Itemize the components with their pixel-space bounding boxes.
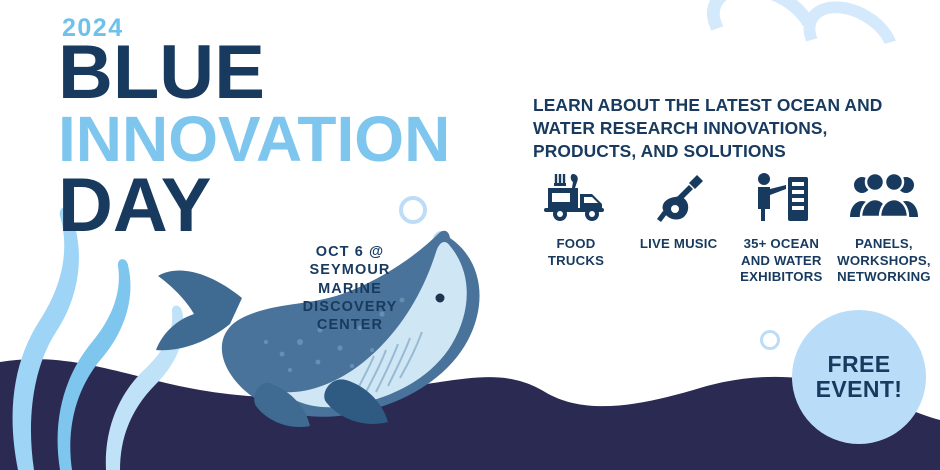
food-truck-icon <box>540 170 612 224</box>
title-line-3: DAY <box>58 171 578 241</box>
free-event-line-2: EVENT! <box>816 377 903 402</box>
feature-item-exhibitors: 35+ OCEAN AND WATER EXHIBITORS <box>733 170 829 286</box>
date-location-text: OCT 6 @ SEYMOUR MARINE DISCOVERY CENTER <box>280 243 420 334</box>
feature-caption: FOOD TRUCKS <box>528 236 624 269</box>
electric-guitar-icon <box>653 170 705 224</box>
people-group-icon <box>849 170 919 224</box>
page-title: BLUE INNOVATION DAY <box>58 38 578 241</box>
free-event-badge: FREE EVENT! <box>792 310 926 444</box>
feature-caption: LIVE MUSIC <box>640 236 717 253</box>
exhibitor-booth-icon <box>750 170 812 224</box>
feature-item-food-trucks: FOOD TRUCKS <box>528 170 624 269</box>
feature-caption: PANELS, WORKSHOPS, NETWORKING <box>836 236 932 286</box>
feature-caption: 35+ OCEAN AND WATER EXHIBITORS <box>733 236 829 286</box>
feature-item-panels: PANELS, WORKSHOPS, NETWORKING <box>836 170 932 286</box>
free-event-line-1: FREE <box>816 352 903 377</box>
feature-list: FOOD TRUCKS LIVE MUSIC <box>528 170 932 286</box>
feature-item-live-music: LIVE MUSIC <box>631 170 727 253</box>
headline-text: LEARN ABOUT THE LATEST OCEAN AND WATER R… <box>533 94 923 163</box>
title-line-2: INNOVATION <box>58 110 578 169</box>
title-line-1: BLUE <box>58 38 578 108</box>
event-poster: 2024 BLUE INNOVATION DAY OCT 6 @ SEYMOUR… <box>0 0 940 470</box>
